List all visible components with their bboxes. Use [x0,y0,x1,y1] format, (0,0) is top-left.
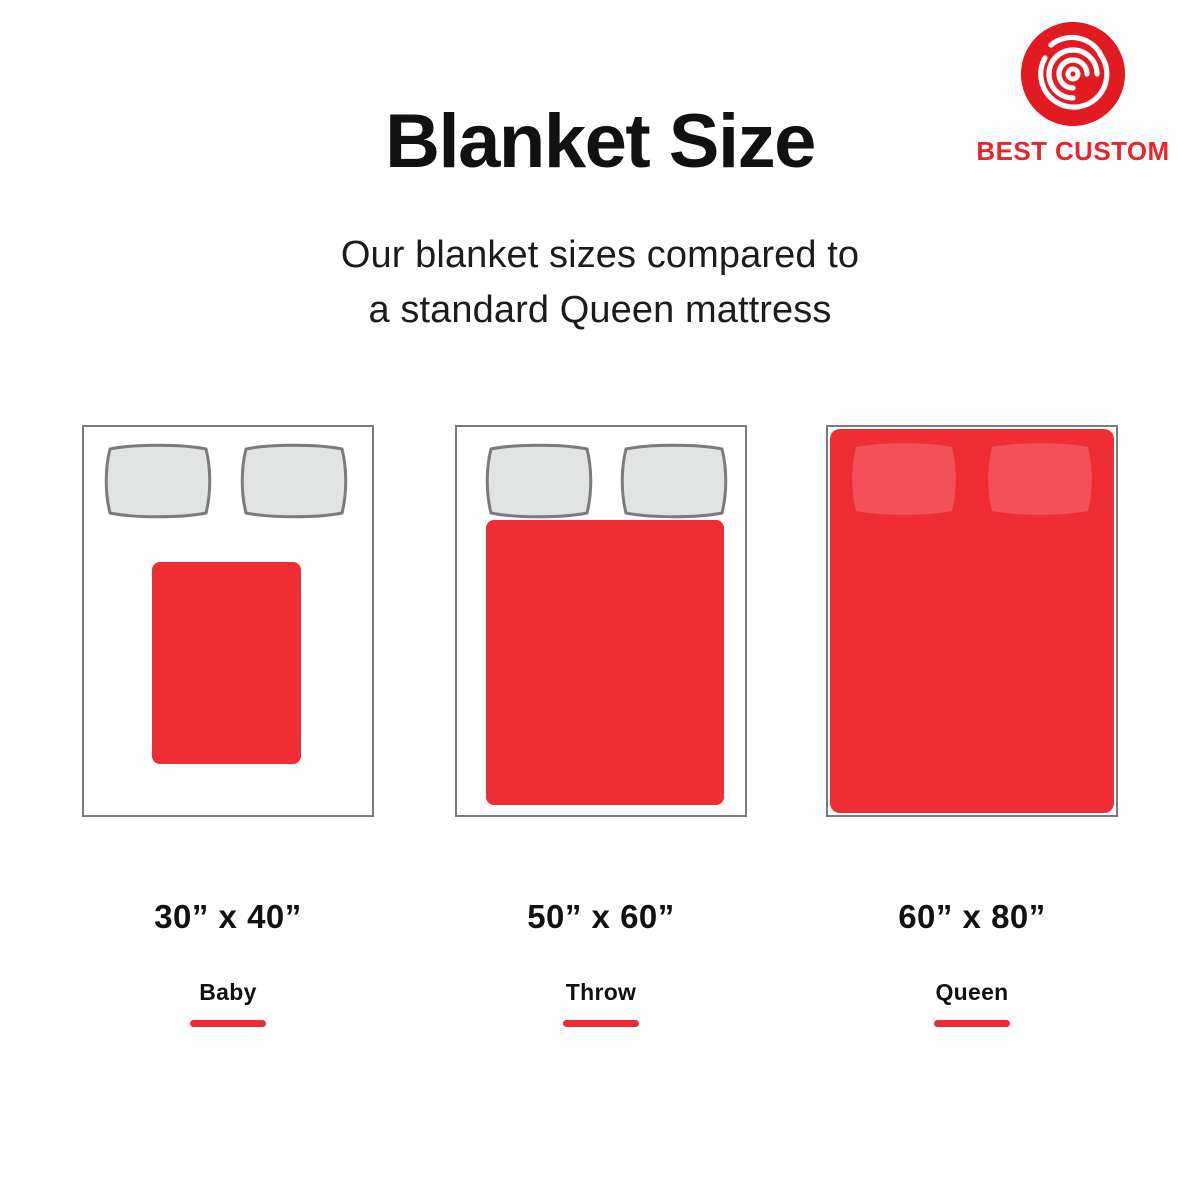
caption-label-throw: Throw [455,981,747,1004]
caption-dimensions-throw: 50” x 60” [455,900,747,933]
caption-underline-baby [190,1020,266,1027]
bed-diagram-baby [82,425,374,817]
bed-captions-row: 30” x 40” Baby 50” x 60” Throw 60” x 80”… [0,900,1200,1040]
pillow-right [986,441,1094,517]
pillow-right [240,443,348,519]
caption-throw: 50” x 60” Throw [455,900,747,1027]
caption-underline-throw [563,1020,639,1027]
pillow-right [620,443,728,519]
page-title: Blanket Size [0,104,1200,180]
pillow-left [850,441,958,517]
caption-baby: 30” x 40” Baby [82,900,374,1027]
caption-label-queen: Queen [826,981,1118,1004]
caption-label-baby: Baby [82,981,374,1004]
caption-underline-queen [934,1020,1010,1027]
page-subtitle: Our blanket sizes compared to a standard… [0,228,1200,338]
bed-diagram-queen [826,425,1118,817]
blanket-overlay-throw [486,520,724,805]
caption-dimensions-baby: 30” x 40” [82,900,374,933]
pillow-left [104,443,212,519]
pillow-left [485,443,593,519]
caption-queen: 60” x 80” Queen [826,900,1118,1027]
bed-comparison-row [0,425,1200,817]
caption-dimensions-queen: 60” x 80” [826,900,1118,933]
blanket-overlay-baby [152,562,301,764]
bed-diagram-throw [455,425,747,817]
